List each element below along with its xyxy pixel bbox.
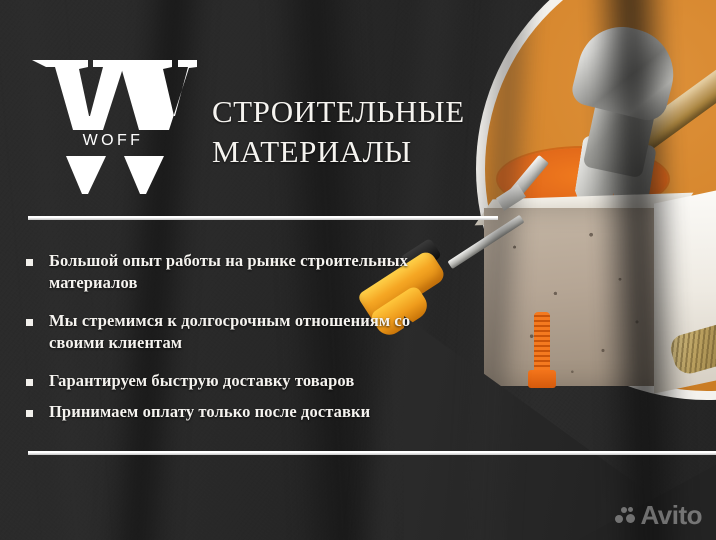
bullet-square-icon xyxy=(26,319,33,326)
avito-watermark: Avito xyxy=(615,502,702,528)
divider-top xyxy=(28,216,498,220)
feature-list: Большой опыт работы на рынке строительны… xyxy=(26,250,446,433)
woff-logo: WOFF xyxy=(28,56,198,194)
list-item: Гарантируем быструю доставку товаров xyxy=(26,370,446,392)
list-item-label: Мы стремимся к долгосрочным отношениям с… xyxy=(49,310,446,355)
list-item: Большой опыт работы на рынке строительны… xyxy=(26,250,446,295)
orange-bolt-shank xyxy=(534,312,550,372)
bullet-square-icon xyxy=(26,259,33,266)
orange-bolt-head xyxy=(528,370,556,388)
page-title-line-1: СТРОИТЕЛЬНЫЕ xyxy=(212,92,532,132)
list-item-label: Большой опыт работы на рынке строительны… xyxy=(49,250,446,295)
page-title-line-2: МАТЕРИАЛЫ xyxy=(212,132,532,172)
list-item: Мы стремимся к долгосрочным отношениям с… xyxy=(26,310,446,355)
poster-canvas: WOFF СТРОИТЕЛЬНЫЕ МАТЕРИАЛЫ Большой опыт… xyxy=(0,0,716,540)
list-item-label: Принимаем оплату только после доставки xyxy=(49,401,370,423)
avito-wordmark: Avito xyxy=(640,502,702,528)
avito-dots-icon xyxy=(615,506,635,524)
bullet-square-icon xyxy=(26,379,33,386)
divider-bottom xyxy=(28,451,716,455)
page-title: СТРОИТЕЛЬНЫЕ МАТЕРИАЛЫ xyxy=(212,92,532,172)
bullet-square-icon xyxy=(26,410,33,417)
woff-wordmark: WOFF xyxy=(83,132,144,149)
list-item: Принимаем оплату только после доставки xyxy=(26,401,446,423)
list-item-label: Гарантируем быструю доставку товаров xyxy=(49,370,354,392)
